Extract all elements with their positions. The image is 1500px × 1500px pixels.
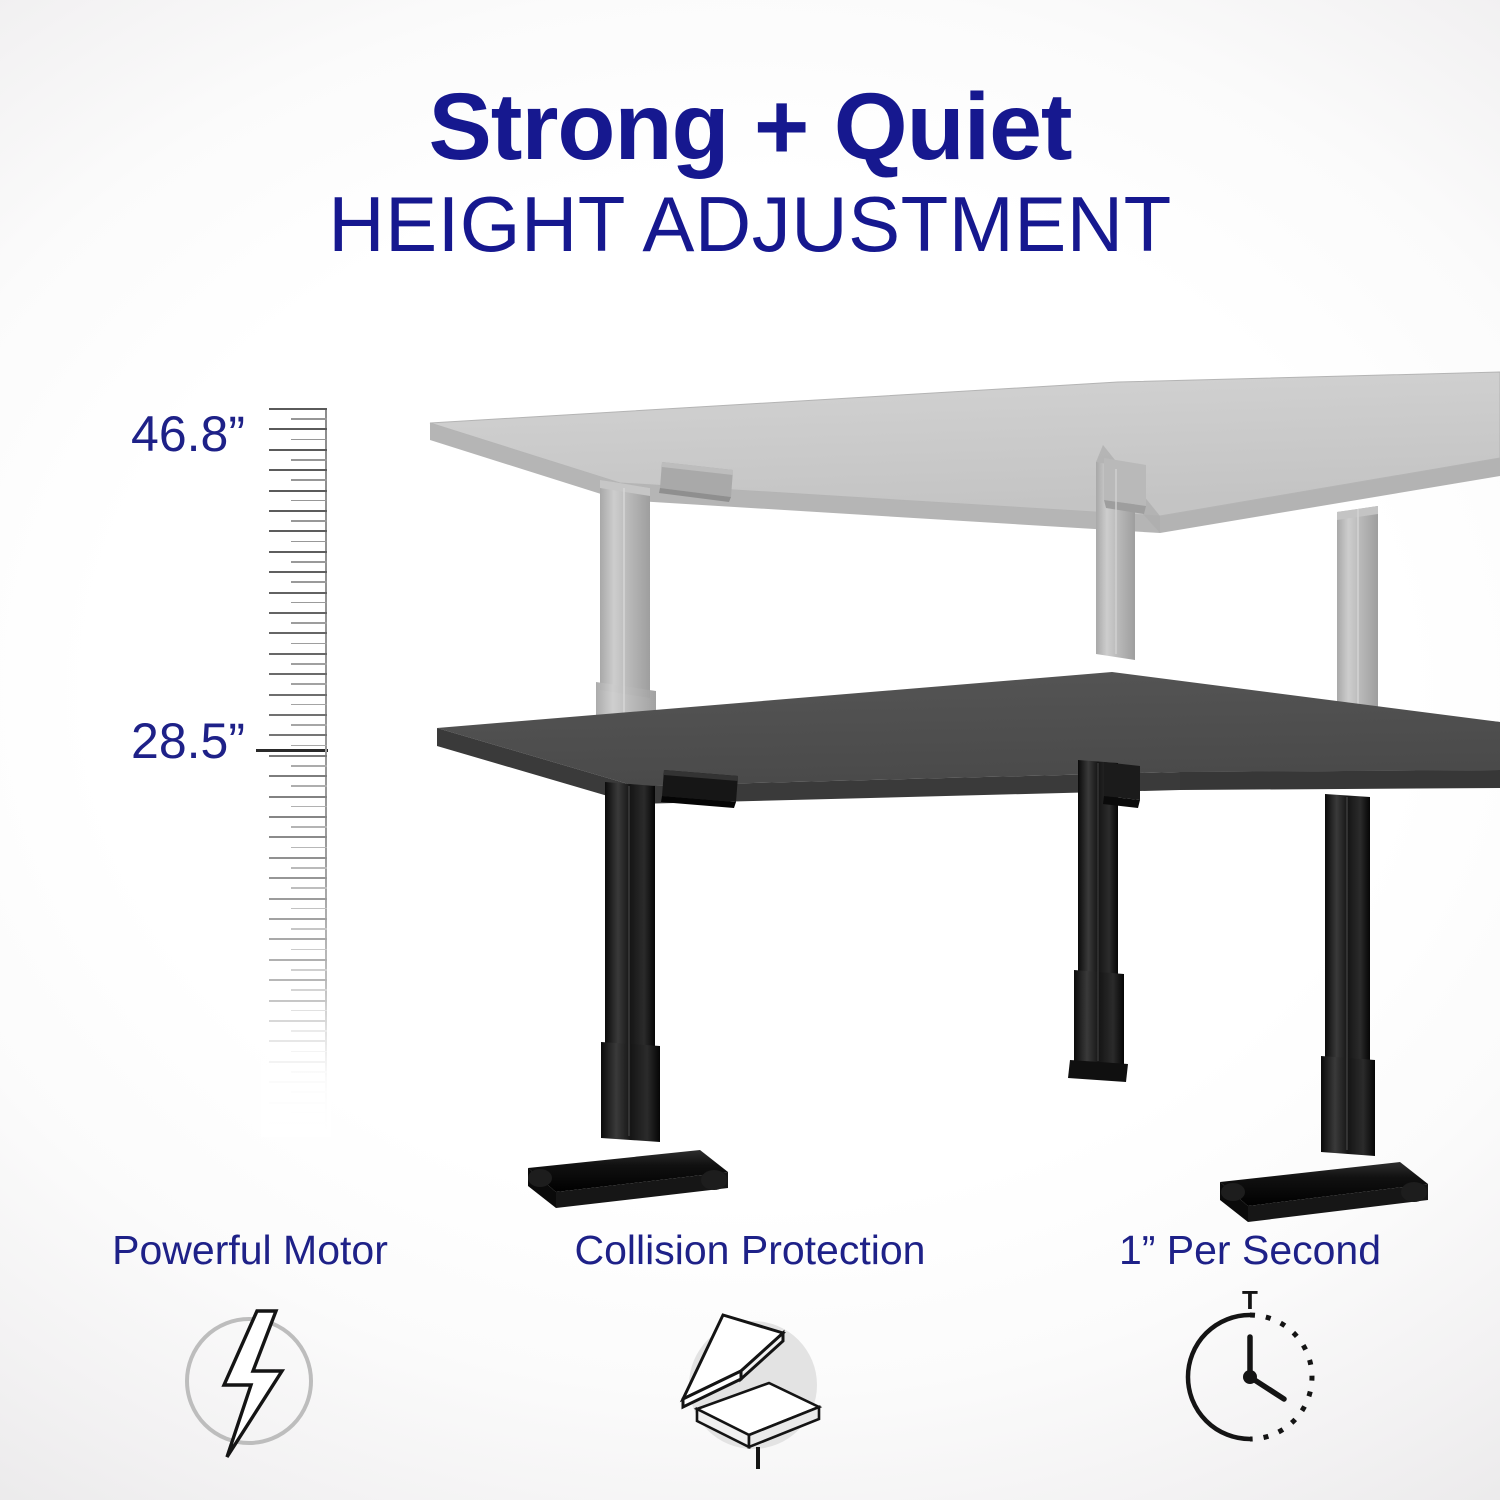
feature-speed: 1” Per Second T	[1000, 1228, 1500, 1500]
lowered-desk-left-leg	[528, 782, 728, 1208]
feature-collision-protection: Collision Protection	[500, 1228, 1000, 1500]
clock-speed-icon: T	[1145, 1289, 1355, 1469]
raised-desk-corner-leg	[1096, 458, 1146, 660]
feature-row: Powerful Motor Collision Protection	[0, 1228, 1500, 1500]
lowered-desk-dark	[437, 672, 1500, 1222]
infographic-page: Strong + Quiet HEIGHT ADJUSTMENT 46.8” 2…	[0, 0, 1500, 1500]
page-subtitle: HEIGHT ADJUSTMENT	[0, 182, 1500, 268]
desk-control-keypad-lower	[661, 770, 738, 808]
raised-desk-right-leg	[1337, 506, 1378, 735]
desk-collision-icon	[645, 1289, 855, 1469]
lowered-desk-corner-leg	[1068, 760, 1140, 1082]
feature-label-speed: 1” Per Second	[1119, 1228, 1381, 1273]
feature-label-powerful-motor: Powerful Motor	[112, 1228, 388, 1273]
lowered-desk-right-leg	[1220, 794, 1428, 1222]
feature-powerful-motor: Powerful Motor	[0, 1228, 500, 1500]
svg-text:T: T	[1242, 1289, 1258, 1315]
l-shaped-standing-desk-illustration	[0, 330, 1500, 1260]
lightning-bolt-icon	[145, 1289, 355, 1469]
feature-label-collision-protection: Collision Protection	[575, 1228, 926, 1273]
page-title: Strong + Quiet	[0, 78, 1500, 178]
headline-block: Strong + Quiet HEIGHT ADJUSTMENT	[0, 78, 1500, 268]
